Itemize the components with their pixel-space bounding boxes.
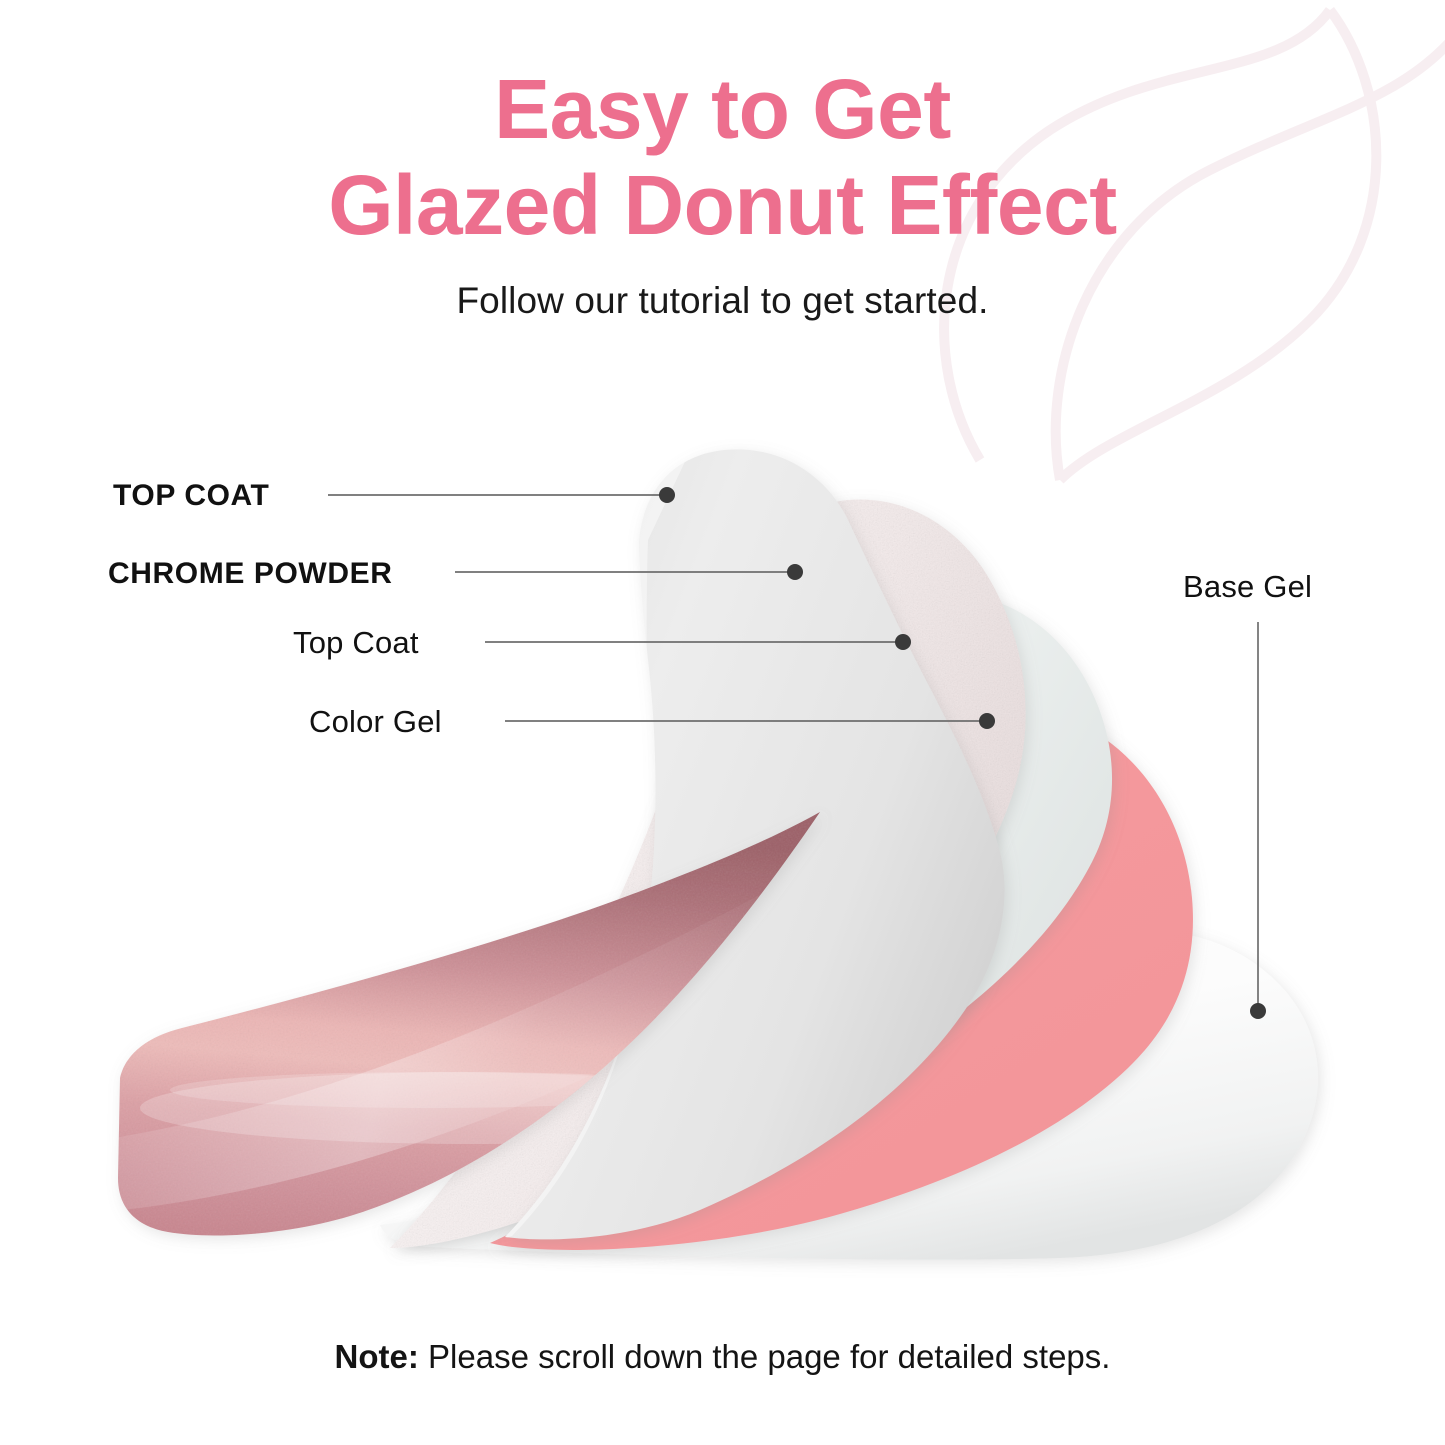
dot-base-gel [1250, 1003, 1266, 1019]
dot-chrome-powder [787, 564, 803, 580]
footer-note-text: Please scroll down the page for detailed… [428, 1338, 1110, 1375]
footer-note: Note: Please scroll down the page for de… [0, 1338, 1445, 1376]
callout-label-top-coat-caps: TOP COAT [113, 479, 270, 513]
nail-layer-diagram [0, 0, 1445, 1445]
dot-color-gel [979, 713, 995, 729]
dot-top-coat-caps [659, 487, 675, 503]
dot-top-coat [895, 634, 911, 650]
callout-label-base-gel: Base Gel [1183, 569, 1312, 605]
infographic-canvas: Easy to Get Glazed Donut Effect Follow o… [0, 0, 1445, 1445]
footer-note-label: Note: [335, 1338, 419, 1375]
callout-label-chrome-powder: CHROME POWDER [108, 557, 392, 591]
callout-label-top-coat: Top Coat [293, 625, 419, 661]
callout-label-color-gel: Color Gel [309, 704, 442, 740]
